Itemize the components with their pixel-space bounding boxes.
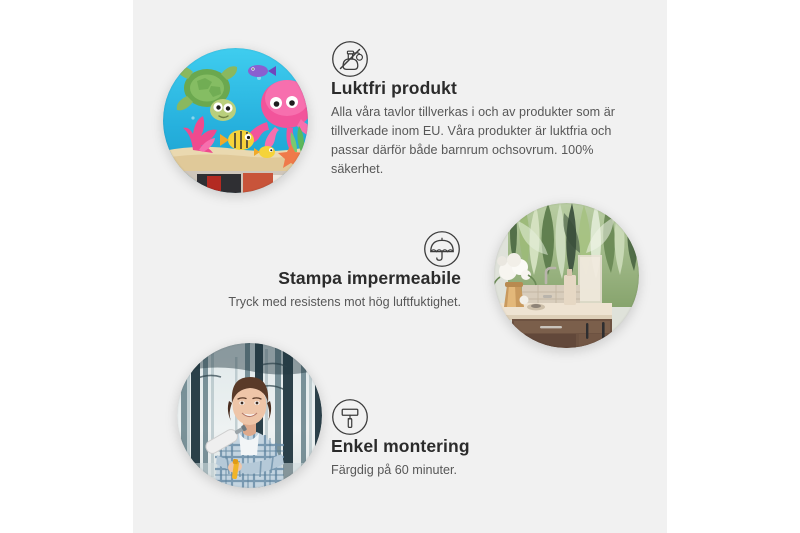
no-fragrance-icon <box>331 40 369 78</box>
photo-underwater-kids <box>163 48 308 193</box>
photo-woman-paint-roller <box>177 343 322 488</box>
paint-roller-icon <box>331 398 369 436</box>
feature-body: Tryck med resistens mot hög luftfuktighe… <box>215 293 461 311</box>
photo-bathroom-foliage <box>494 203 639 348</box>
feature-waterproof: Stampa impermeabile Tryck med resistens … <box>215 230 461 311</box>
feature-title: Luktfri produkt <box>331 78 626 100</box>
feature-odourless: Luktfri produkt Alla våra tavlor tillver… <box>331 40 626 179</box>
feature-title: Stampa impermeabile <box>215 268 461 290</box>
feature-easy-install: Enkel montering Färgdig på 60 minuter. <box>331 398 571 479</box>
feature-body: Färgdig på 60 minuter. <box>331 461 571 479</box>
feature-title: Enkel montering <box>331 436 571 458</box>
promo-infographic: Luktfri produkt Alla våra tavlor tillver… <box>0 0 800 533</box>
umbrella-icon <box>423 230 461 268</box>
feature-body: Alla våra tavlor tillverkas i och av pro… <box>331 103 626 180</box>
